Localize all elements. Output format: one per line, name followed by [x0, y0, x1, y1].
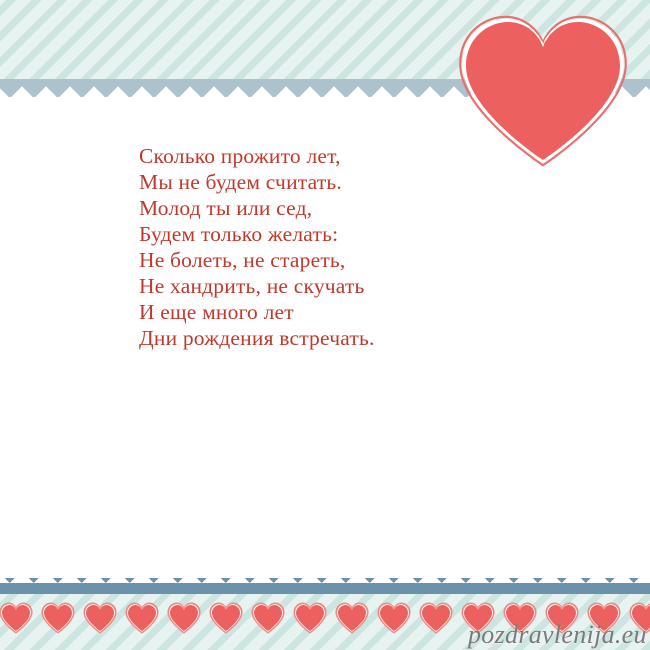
poem-line: Сколько прожито лет, — [139, 143, 559, 169]
heart-icon — [377, 602, 411, 634]
heart-icon — [209, 602, 243, 634]
heart-icon — [125, 602, 159, 634]
heart-icon — [293, 602, 327, 634]
poem-line: Будем только желать: — [139, 221, 559, 247]
poem-line: Дни рождения встречать. — [139, 325, 559, 351]
poem-line: Молод ты или сед, — [139, 195, 559, 221]
heart-icon — [0, 602, 33, 634]
heart-icon — [419, 602, 453, 634]
poem-line: Мы не будем считать. — [139, 169, 559, 195]
heart-icon — [83, 602, 117, 634]
watermark-label: pozdravlenija.eu — [468, 620, 647, 650]
poem-line: И еще много лет — [139, 299, 559, 325]
heart-icon — [41, 602, 75, 634]
poem-line: Не болеть, не стареть, — [139, 247, 559, 273]
poem-text: Сколько прожито лет, Мы не будем считать… — [139, 143, 559, 351]
heart-icon — [251, 602, 285, 634]
heart-icon — [335, 602, 369, 634]
greeting-card: Сколько прожито лет, Мы не будем считать… — [0, 0, 650, 650]
poem-line: Не хандрить, не скучать — [139, 273, 559, 299]
heart-icon — [167, 602, 201, 634]
bottom-notched-edge — [0, 578, 650, 583]
